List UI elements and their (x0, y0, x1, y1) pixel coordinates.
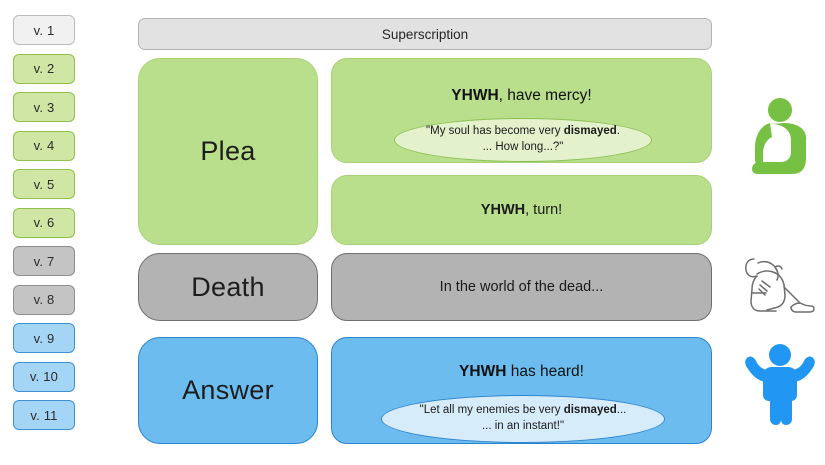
plea-quote-ellipse: "My soul has become very dismayed. ... H… (394, 118, 652, 162)
death-text: In the world of the dead... (332, 279, 711, 295)
kneeling-praying-person-icon (744, 96, 816, 181)
section-label-answer[interactable]: Answer (138, 337, 318, 444)
plea-heading-2: YHWH, turn! (332, 202, 711, 218)
answer-content-box[interactable]: YHWH has heard! "Let all my enemies be v… (331, 337, 712, 444)
answer-quote-line-1-post: ... (617, 404, 627, 416)
answer-quote-keyword: dismayed (564, 404, 617, 416)
plea-quote-keyword: dismayed (564, 125, 617, 137)
superscription-bar: Superscription (138, 18, 712, 50)
answer-quote-line-2: ... in an instant!" (482, 419, 564, 435)
answer-heading-divine-name: YHWH (459, 363, 506, 380)
plea-heading-1: YHWH, have mercy! (332, 87, 711, 105)
plea-heading-1-rest: , have mercy! (499, 87, 592, 104)
plea-quote-line-1-post: . (617, 125, 620, 137)
death-content-box[interactable]: In the world of the dead... (331, 253, 712, 321)
answer-quote-line-1-pre: "Let all my enemies be very (420, 404, 564, 416)
plea-content-box-1[interactable]: YHWH, have mercy! "My soul has become ve… (331, 58, 712, 163)
answer-quote-ellipse: "Let all my enemies be very dismayed... … (381, 395, 665, 443)
section-label-death[interactable]: Death (138, 253, 318, 321)
section-label-text: Plea (200, 136, 255, 167)
section-label-text: Answer (182, 375, 274, 406)
plea-heading-2-rest: , turn! (525, 202, 562, 218)
answer-heading: YHWH has heard! (332, 363, 711, 381)
plea-content-box-2[interactable]: YHWH, turn! (331, 175, 712, 245)
answer-quote-line-1: "Let all my enemies be very dismayed... (420, 403, 627, 419)
celebrating-person-arms-raised-icon (742, 341, 818, 432)
plea-quote-line-1-pre: "My soul has become very (426, 125, 564, 137)
section-label-plea[interactable]: Plea (138, 58, 318, 245)
superscription-label: Superscription (382, 27, 468, 42)
plea-heading-2-divine-name: YHWH (481, 202, 525, 218)
plea-heading-1-divine-name: YHWH (451, 87, 498, 104)
plea-quote-line-2: ... How long...?" (483, 140, 564, 156)
answer-heading-rest: has heard! (506, 363, 584, 380)
seated-grieving-person-icon (738, 243, 818, 326)
psalm-structure-diagram: v. 1 v. 2 v. 3 v. 4 v. 5 v. 6 v. 7 v. 8 … (0, 0, 825, 465)
plea-quote-line-1: "My soul has become very dismayed. (426, 124, 620, 140)
section-label-text: Death (191, 272, 265, 303)
